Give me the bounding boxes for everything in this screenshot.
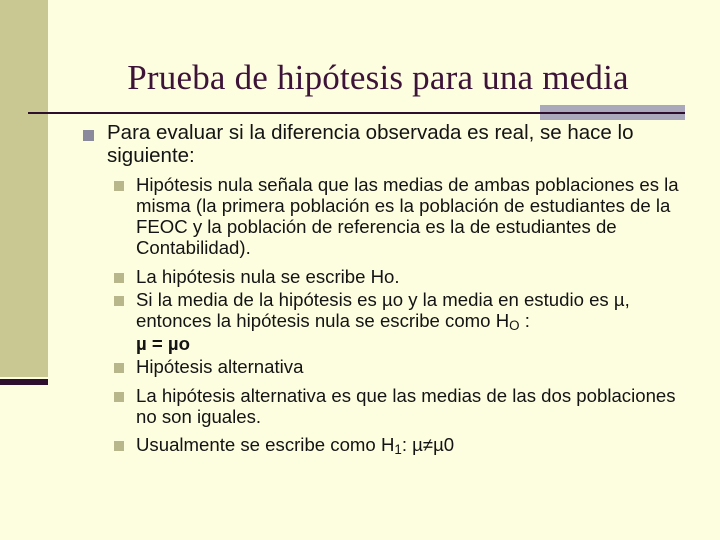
symbol-base: H — [496, 310, 509, 331]
bullet-level2-text: La hipótesis nula se escribe Ho. — [136, 266, 400, 287]
square-bullet-icon — [114, 273, 124, 283]
square-bullet-icon — [114, 363, 124, 373]
bullet-level2-text: Hipótesis nula señala que las medias de … — [136, 174, 679, 259]
bullet-level2-hipotesis-alternativa-definicion: La hipótesis alternativa es que las medi… — [0, 385, 720, 427]
bullet-level2-text-before: Si la media de la hipótesis es µo y la m… — [136, 289, 630, 331]
square-bullet-icon — [114, 392, 124, 402]
bullet-level2-text: La hipótesis alternativa es que las medi… — [136, 385, 676, 427]
title-divider-line-overlay — [540, 112, 685, 114]
bullet-level1: Para evaluar si la diferencia observada … — [0, 122, 720, 168]
bullet-level2-hipotesis-alternativa-notacion: Usualmente se escribe como H1: µ≠µ0 — [0, 434, 720, 457]
square-bullet-icon — [114, 181, 124, 191]
symbol-after: : — [520, 310, 530, 331]
bullet-level2-hipotesis-nula-formula: Si la media de la hipótesis es µo y la m… — [0, 289, 720, 355]
slide-title: Prueba de hipótesis para una media — [48, 59, 708, 98]
square-bullet-icon — [83, 130, 94, 141]
symbol-after: : µ≠µ0 — [402, 434, 454, 455]
symbol-base: H — [381, 434, 394, 455]
bullet-level2-text: Hipótesis alternativa — [136, 356, 303, 377]
slide: Prueba de hipótesis para una media Para … — [0, 0, 720, 540]
alternative-hypothesis-symbol: H1: µ≠µ0 — [381, 434, 454, 455]
square-bullet-icon — [114, 441, 124, 451]
bullet-level1-text: Para evaluar si la diferencia observada … — [107, 121, 633, 167]
symbol-subscript: 1 — [394, 442, 401, 457]
bullet-level2-hipotesis-nula-definicion: Hipótesis nula señala que las medias de … — [0, 174, 720, 259]
bullet-level2-hipotesis-nula-notacion: La hipótesis nula se escribe Ho. — [0, 266, 720, 287]
symbol-subscript: O — [509, 318, 519, 333]
bullet-level2-text-before: Usualmente se escribe como — [136, 434, 381, 455]
null-hypothesis-formula: µ = µo — [136, 333, 690, 354]
null-hypothesis-symbol: HO : — [496, 310, 530, 331]
square-bullet-icon — [114, 296, 124, 306]
bullet-level2-hipotesis-alternativa: Hipótesis alternativa — [0, 356, 720, 377]
slide-body: Para evaluar si la diferencia observada … — [0, 122, 720, 459]
